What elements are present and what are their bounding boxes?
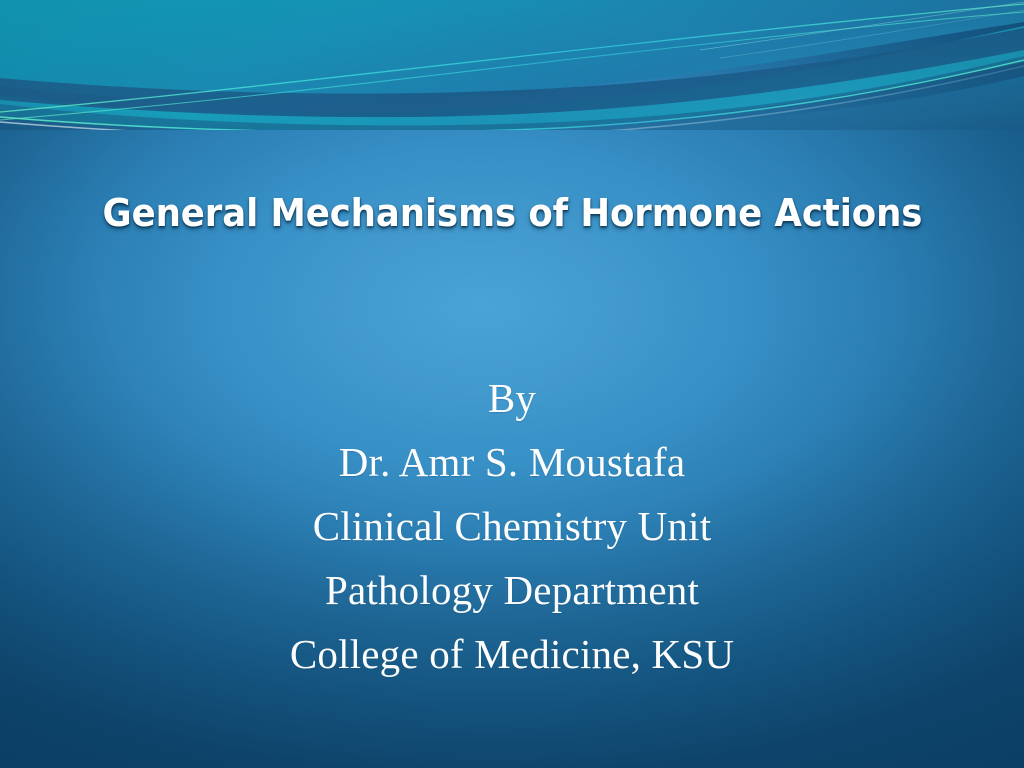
body-line: Clinical Chemistry Unit (0, 494, 1024, 558)
wave-highlight-line-upper (0, 4, 1024, 112)
body-line: By (0, 366, 1024, 430)
wave-highlight-line-white (0, 66, 1024, 130)
title-placeholder: General Mechanisms of Hormone Actions (0, 192, 1024, 235)
wave-teal-lower (0, 26, 1024, 130)
body-line: Pathology Department (0, 558, 1024, 622)
page-title: General Mechanisms of Hormone Actions (102, 192, 922, 235)
wave-teal-upper (0, 0, 1024, 101)
body-placeholder: By Dr. Amr S. Moustafa Clinical Chemistr… (0, 366, 1024, 686)
wave-hairline-right-b (720, 10, 1024, 58)
wave-hairline-right-a (700, 2, 1024, 50)
decorative-wave-graphic (0, 0, 1024, 130)
wave-fade (0, 76, 1024, 130)
body-line: College of Medicine, KSU (0, 622, 1024, 686)
wave-highlight-line-crest (0, 60, 1024, 130)
wave-dark-band (0, 28, 1024, 117)
presentation-slide: General Mechanisms of Hormone Actions By… (0, 0, 1024, 768)
wave-deep-band (0, 56, 1024, 130)
body-line: Dr. Amr S. Moustafa (0, 430, 1024, 494)
wave-highlight-line-mid (0, 12, 1024, 120)
